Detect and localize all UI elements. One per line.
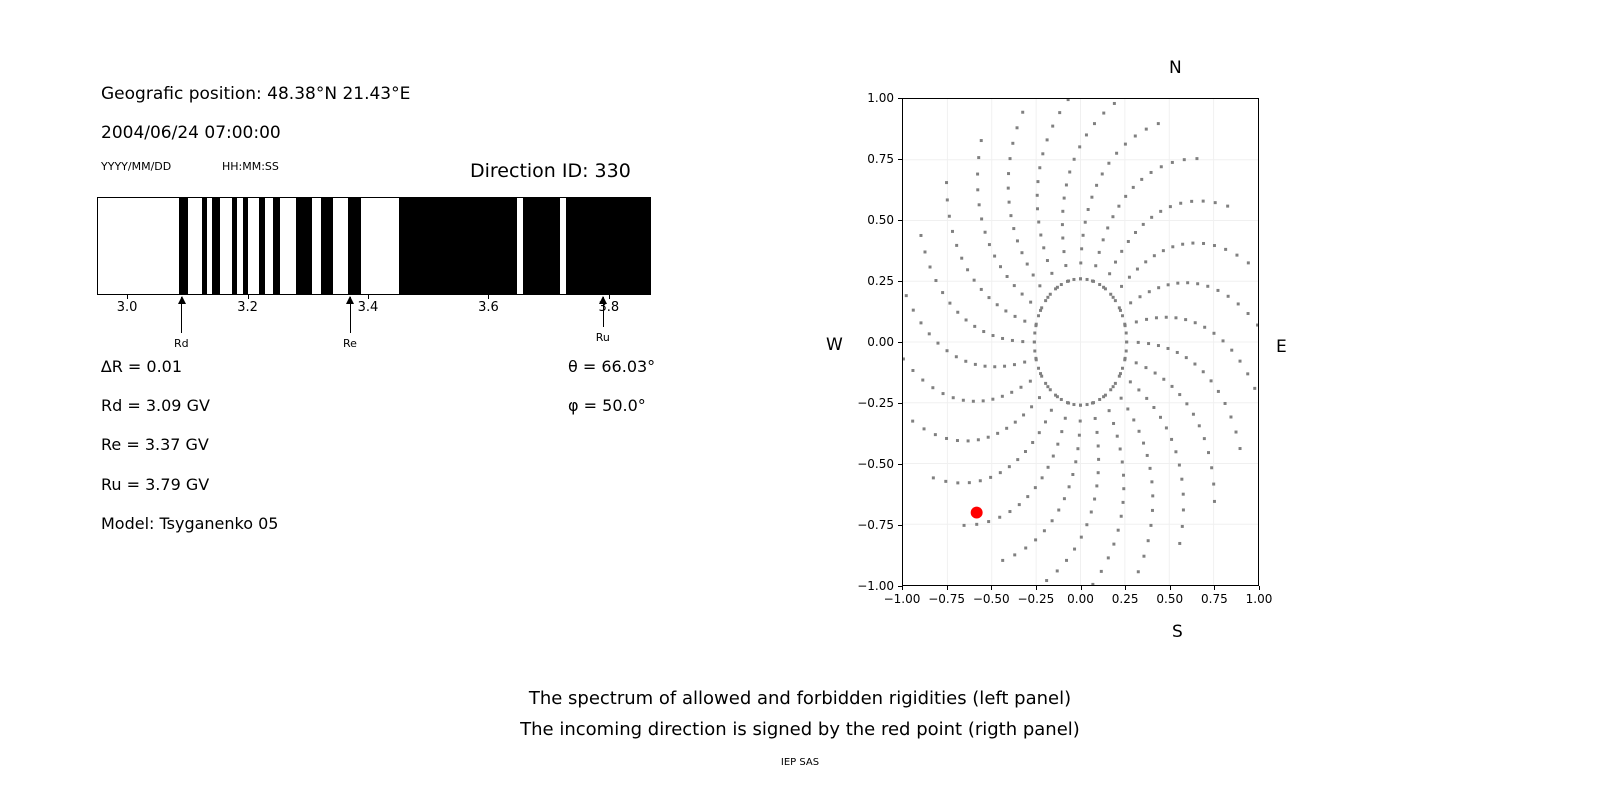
direction-point (1097, 471, 1100, 474)
direction-point (1124, 143, 1127, 146)
direction-point (1085, 133, 1088, 136)
direction-point (1098, 398, 1101, 401)
direction-point (1247, 312, 1250, 315)
time-format-hint: HH:MM:SS (222, 160, 279, 173)
direction-point (1038, 166, 1041, 169)
caption-line-1: The spectrum of allowed and forbidden ri… (0, 688, 1600, 709)
direction-point (977, 438, 980, 441)
y-tick-label: 0.25 (840, 274, 894, 288)
direction-point (1237, 302, 1240, 305)
direction-point (1132, 186, 1135, 189)
direction-point (1012, 227, 1015, 230)
direction-point (1108, 409, 1111, 412)
direction-point (1142, 223, 1145, 226)
y-tick-label: 0.75 (840, 152, 894, 166)
direction-point (1226, 205, 1229, 208)
direction-point (1119, 309, 1122, 312)
direction-point (1126, 407, 1129, 410)
direction-point (1009, 214, 1012, 217)
direction-point (929, 266, 932, 269)
direction-point (968, 481, 971, 484)
direction-point (1086, 278, 1089, 281)
direction-point (1102, 112, 1105, 115)
direction-point (1078, 145, 1081, 148)
direction-point (1008, 201, 1011, 204)
direction-point (1122, 474, 1125, 477)
x-tick-mark (1081, 586, 1082, 590)
direction-point (1050, 409, 1053, 412)
direction-point (1150, 171, 1153, 174)
direction-point (1198, 424, 1201, 427)
direction-point (1010, 391, 1013, 394)
direction-point (1174, 316, 1177, 319)
direction-point (992, 334, 995, 337)
compass-north-label: N (1169, 58, 1182, 78)
direction-point (964, 360, 967, 363)
direction-point (1030, 405, 1033, 408)
direction-point (1034, 538, 1037, 541)
direction-point (991, 398, 994, 401)
direction-point (1039, 234, 1042, 237)
direction-point (919, 234, 922, 237)
x-tick-mark (991, 586, 992, 590)
direction-point (1171, 161, 1174, 164)
direction-point (923, 250, 926, 253)
direction-point (1222, 339, 1225, 342)
x-tick-label: 0.25 (1112, 592, 1139, 606)
x-tick-label: 0.75 (1201, 592, 1228, 606)
direction-point (1093, 122, 1096, 125)
direction-point (1128, 276, 1131, 279)
direction-point (1253, 387, 1256, 390)
direction-point (1044, 420, 1047, 423)
direction-point (1023, 320, 1026, 323)
direction-point (1167, 283, 1170, 286)
left-panel: Geografic position: 48.38°N 21.43°E 2004… (0, 0, 800, 680)
direction-point (1100, 570, 1103, 573)
direction-point (965, 318, 968, 321)
direction-point (1212, 483, 1215, 486)
forbidden-band (212, 198, 219, 294)
y-tick-mark (898, 403, 902, 404)
direction-point (982, 399, 985, 402)
direction-point (993, 255, 996, 258)
direction-point (1239, 447, 1242, 450)
direction-point (1095, 484, 1098, 487)
direction-point (1041, 152, 1044, 155)
direction-point (1213, 244, 1216, 247)
direction-point (934, 433, 937, 436)
forbidden-band (566, 198, 651, 294)
direction-point (967, 439, 970, 442)
y-tick-label: 1.00 (840, 91, 894, 105)
direction-point (1080, 247, 1083, 250)
direction-point (1124, 195, 1127, 198)
direction-point (1040, 306, 1043, 309)
direction-point (977, 156, 980, 159)
direction-point (1078, 434, 1081, 437)
direction-point (1171, 245, 1174, 248)
direction-point (980, 288, 983, 291)
direction-point (1090, 196, 1093, 199)
direction-point (1085, 523, 1088, 526)
direction-point (1079, 404, 1082, 407)
direction-point (1144, 260, 1147, 263)
direction-point (1051, 125, 1054, 128)
direction-point (987, 520, 990, 523)
direction-point (1142, 555, 1145, 558)
direction-point (1037, 367, 1040, 370)
direction-point (1068, 171, 1071, 174)
direction-point (1003, 365, 1006, 368)
direction-point (1035, 358, 1038, 361)
direction-point (1174, 450, 1177, 453)
direction-point (998, 516, 1001, 519)
direction-point (1033, 341, 1036, 344)
direction-point (1057, 509, 1060, 512)
direction-point (956, 481, 959, 484)
direction-point (1214, 201, 1217, 204)
direction-point (1151, 494, 1154, 497)
direction-point (1185, 402, 1188, 405)
direction-point (903, 357, 905, 360)
direction-point (980, 139, 983, 142)
forbidden-band (399, 198, 517, 294)
direction-point (1096, 431, 1099, 434)
direction-point (1084, 221, 1087, 224)
direction-point (1062, 250, 1065, 253)
direction-point (1176, 282, 1179, 285)
direction-point (1135, 320, 1138, 323)
direction-point (1038, 431, 1041, 434)
x-tick-mark (368, 295, 369, 299)
direction-point (1181, 525, 1184, 528)
direction-point (1023, 361, 1026, 364)
direction-point (1149, 467, 1152, 470)
direction-point (1118, 375, 1121, 378)
direction-point (1137, 341, 1140, 344)
direction-point (999, 471, 1002, 474)
direction-point (1129, 301, 1132, 304)
direction-point (987, 296, 990, 299)
direction-point (1117, 205, 1120, 208)
direction-point (1016, 239, 1019, 242)
direction-point (1213, 500, 1216, 503)
direction-point (1142, 442, 1145, 445)
direction-point (1167, 347, 1170, 350)
direction-point (1120, 250, 1123, 253)
direction-point (999, 265, 1002, 268)
direction-point (978, 203, 981, 206)
direction-point (1190, 200, 1193, 203)
x-tick-label: 3.2 (237, 300, 258, 315)
direction-point (1185, 356, 1188, 359)
forbidden-band (243, 198, 248, 294)
direction-point (1064, 417, 1067, 420)
direction-point (1056, 569, 1059, 572)
direction-point (1109, 388, 1112, 391)
direction-point (1039, 372, 1042, 375)
direction-point (1227, 295, 1230, 298)
compass-south-label: S (1172, 622, 1183, 642)
direction-point (1150, 480, 1153, 483)
direction-point (1109, 293, 1112, 296)
direction-point (1066, 280, 1069, 283)
direction-point (928, 332, 931, 335)
direction-point (911, 369, 914, 372)
marker-arrow-ru (603, 297, 604, 327)
direction-point (1031, 441, 1034, 444)
forbidden-band (523, 198, 561, 294)
forbidden-band (321, 198, 333, 294)
direction-point (1202, 242, 1205, 245)
direction-point (1054, 287, 1057, 290)
direction-point (1170, 438, 1173, 441)
direction-point (1149, 524, 1152, 527)
direction-point (1184, 318, 1187, 321)
direction-point (1217, 390, 1220, 393)
direction-point (1203, 437, 1206, 440)
direction-point (1054, 394, 1057, 397)
direction-point (966, 268, 969, 271)
direction-point (1047, 466, 1050, 469)
direction-point (1005, 427, 1008, 430)
direction-point (1194, 321, 1197, 324)
direction-point (1026, 263, 1029, 266)
direction-point (996, 432, 999, 435)
direction-point (1093, 498, 1096, 501)
direction-point (1229, 416, 1232, 419)
y-tick-label: −0.50 (840, 457, 894, 471)
x-tick-label: 3.0 (117, 300, 138, 315)
direction-point (1016, 126, 1019, 129)
direction-point (1127, 240, 1130, 243)
direction-point (1112, 385, 1115, 388)
direction-point (1058, 111, 1061, 114)
direction-point (1065, 183, 1068, 186)
direction-point (932, 476, 935, 479)
direction-point (948, 302, 951, 305)
direction-point (1037, 221, 1040, 224)
direction-point (1024, 450, 1027, 453)
direction-point (1107, 162, 1110, 165)
direction-point (1206, 285, 1209, 288)
direction-point (1001, 559, 1004, 562)
direction-point (972, 400, 975, 403)
direction-point (1196, 282, 1199, 285)
direction-point (944, 480, 947, 483)
y-tick-mark (898, 220, 902, 221)
direction-point (1122, 487, 1125, 490)
rigidity-spectrum-chart (97, 197, 651, 295)
direction-id-label: Direction ID: 330 (470, 160, 631, 182)
direction-point (1082, 234, 1085, 237)
spectrum-x-axis: 3.03.23.43.63.8RdReRu (97, 295, 651, 307)
direction-point (1087, 208, 1090, 211)
direction-point (1101, 172, 1104, 175)
direction-point (1125, 341, 1128, 344)
direction-point (1094, 264, 1097, 267)
direction-point (1152, 406, 1155, 409)
direction-point (1159, 416, 1162, 419)
direction-point (1080, 536, 1083, 539)
direction-point (956, 439, 959, 442)
forbidden-band (259, 198, 264, 294)
direction-point (942, 392, 945, 395)
direction-point (1183, 158, 1186, 161)
direction-point (946, 349, 949, 352)
param-ru: Ru = 3.79 GV (101, 475, 209, 494)
direction-point (912, 309, 915, 312)
direction-point (1114, 261, 1117, 264)
direction-point (1125, 349, 1128, 352)
direction-point (960, 257, 963, 260)
direction-point (1008, 510, 1011, 513)
direction-point (1061, 237, 1064, 240)
direction-point (1162, 378, 1165, 381)
direction-point (1046, 296, 1049, 299)
direction-point (963, 524, 966, 527)
param-rd: Rd = 3.09 GV (101, 396, 210, 415)
direction-point (1224, 248, 1227, 251)
x-tick-mark (609, 295, 610, 299)
direction-point (1046, 259, 1049, 262)
marker-arrow-rd (181, 297, 182, 333)
direction-point (934, 279, 937, 282)
direction-point (1154, 372, 1157, 375)
direction-point (987, 436, 990, 439)
direction-point (1202, 370, 1205, 373)
direction-point (936, 342, 939, 345)
direction-point (911, 420, 914, 423)
marker-arrow-re (350, 297, 351, 333)
direction-point (1061, 223, 1064, 226)
direction-point (1148, 290, 1151, 293)
marker-label-rd: Rd (174, 337, 189, 350)
direction-point (1092, 280, 1095, 283)
param-model: Model: Tsyganenko 05 (101, 514, 278, 533)
direction-point (1118, 306, 1121, 309)
direction-point (1155, 316, 1158, 319)
direction-point (956, 311, 959, 314)
direction-point (984, 365, 987, 368)
direction-point (1182, 493, 1185, 496)
direction-point (962, 399, 965, 402)
direction-point (1178, 542, 1181, 545)
date-format-hint: YYYY/MM/DD (101, 160, 171, 173)
direction-point (989, 476, 992, 479)
direction-point (1137, 388, 1140, 391)
direction-point (1159, 210, 1162, 213)
direction-point (979, 479, 982, 482)
direction-point (1073, 158, 1076, 161)
direction-point (1029, 301, 1032, 304)
direction-point (1137, 570, 1140, 573)
direction-point (1146, 454, 1149, 457)
y-tick-mark (898, 342, 902, 343)
direction-point (1160, 165, 1163, 168)
direction-point (1056, 443, 1059, 446)
direction-point (1121, 367, 1124, 370)
y-tick-label: 0.00 (840, 335, 894, 349)
direction-point (1151, 509, 1154, 512)
forbidden-band (348, 198, 361, 294)
direction-point (1034, 486, 1037, 489)
direction-point (1112, 422, 1115, 425)
direction-point (1032, 274, 1035, 277)
direction-point (1176, 351, 1179, 354)
direction-point (1169, 205, 1172, 208)
direction-point (1066, 401, 1069, 404)
x-tick-label: 0.00 (1067, 592, 1094, 606)
direction-point (1121, 314, 1124, 317)
direction-point (988, 243, 991, 246)
direction-point (1041, 476, 1044, 479)
direction-point (1049, 293, 1052, 296)
direction-point (1013, 284, 1016, 287)
y-tick-label: −0.25 (840, 396, 894, 410)
direction-point (1111, 215, 1114, 218)
direction-point (1008, 465, 1011, 468)
direction-point (1165, 316, 1168, 319)
direction-point (1063, 197, 1066, 200)
direction-point (1016, 458, 1019, 461)
direction-point (1162, 249, 1165, 252)
direction-point (1036, 194, 1039, 197)
direction-point (1029, 380, 1032, 383)
direction-point (1120, 515, 1123, 518)
direction-point (1121, 460, 1124, 463)
direction-point (1203, 326, 1206, 329)
x-tick-label: −0.50 (973, 592, 1010, 606)
direction-point (1014, 315, 1017, 318)
direction-point (1009, 157, 1012, 160)
direction-point (1044, 382, 1047, 385)
direction-point (1068, 485, 1071, 488)
direction-point (1044, 299, 1047, 302)
direction-point (1193, 363, 1196, 366)
direction-point (1153, 254, 1156, 257)
compass-east-label: E (1276, 337, 1287, 357)
direction-point (945, 437, 948, 440)
direction-point (1125, 332, 1128, 335)
direction-point (1033, 349, 1036, 352)
direction-point (975, 523, 978, 526)
direction-point (1120, 285, 1123, 288)
direction-point (1119, 447, 1122, 450)
direction-point (1165, 426, 1168, 429)
direction-point (1139, 295, 1142, 298)
direction-point (1120, 397, 1123, 400)
direction-point (1072, 278, 1075, 281)
direction-point (1060, 283, 1063, 286)
direction-point (1116, 435, 1119, 438)
direction-point (1067, 99, 1070, 101)
geographic-position: Geografic position: 48.38°N 21.43°E (101, 84, 410, 104)
direction-point (1020, 251, 1023, 254)
direction-point (952, 396, 955, 399)
direction-point (1122, 501, 1125, 504)
direction-point (1079, 277, 1082, 280)
direction-point (1046, 138, 1049, 141)
direction-point (1021, 293, 1024, 296)
direction-point (1001, 337, 1004, 340)
direction-point (1050, 272, 1053, 275)
direction-point (1033, 332, 1036, 335)
direction-point (1129, 380, 1132, 383)
x-tick-mark (1036, 586, 1037, 590)
direction-point (1011, 142, 1014, 145)
